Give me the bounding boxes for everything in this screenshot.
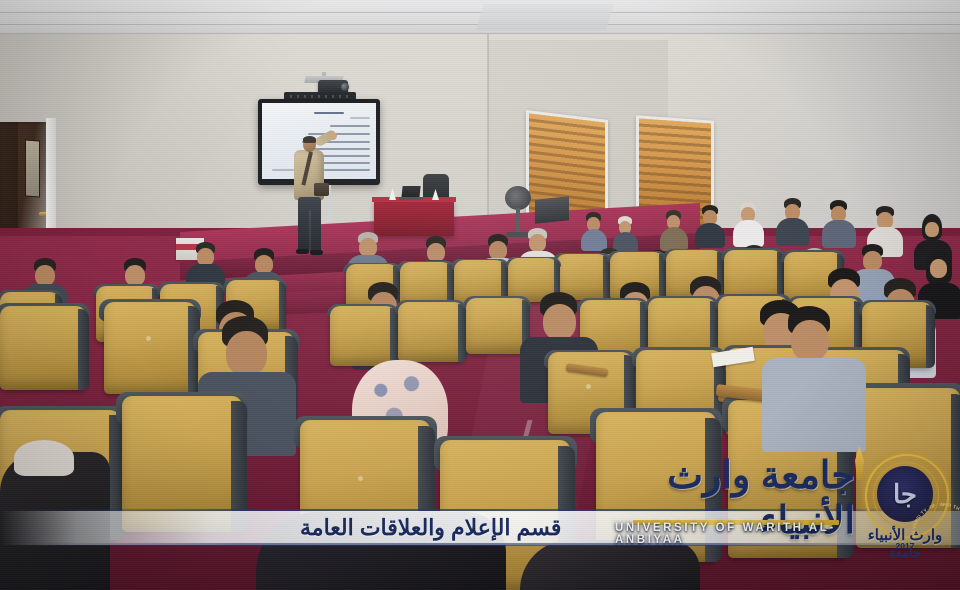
fan-base [506, 232, 530, 237]
foreground-head-covering [14, 440, 74, 476]
fan-stand [516, 208, 520, 234]
crest-arc-letter: F [932, 503, 937, 509]
university-wordmark: جامعة وارث الأنبياء UNIVERSITY OF WARITH… [615, 470, 855, 550]
auditorium-seat[interactable] [0, 306, 86, 390]
lecture-hall-photo: قسم الإعلام والعلاقات العامة جامعة وارث … [0, 0, 960, 590]
crest-spire-icon [855, 446, 864, 480]
university-crest: جا UNIVERSITY OF WARITH AL-ANBIYAA وارث … [855, 446, 955, 558]
crest-arc-text: UNIVERSITY OF WARITH AL-ANBIYAA [867, 458, 943, 534]
presenter-shoe [310, 250, 323, 255]
auditorium-seat[interactable] [104, 302, 196, 394]
presenter-shoe [296, 249, 309, 254]
shoulder-bag [314, 183, 329, 196]
auditorium-seat[interactable] [398, 302, 464, 362]
floor-fan [505, 186, 531, 210]
crest-year: 2017 [891, 540, 919, 552]
laptop-base [399, 197, 423, 200]
presenter-hand [329, 132, 337, 140]
auditorium-seat[interactable] [466, 298, 528, 354]
presenter-hair [303, 136, 316, 143]
ceiling-vent-icon [476, 4, 613, 30]
university-name-english: UNIVERSITY OF WARITH AL-ANBIYAA [615, 526, 855, 542]
presenter-table [374, 200, 454, 236]
equipment-case [535, 196, 569, 224]
auditorium-seat[interactable] [330, 306, 396, 366]
speaker-grille-icon [290, 95, 348, 98]
projector-lens-icon [341, 83, 349, 91]
university-name-arabic: جامعة وارث الأنبياء [615, 470, 855, 526]
door-glass-panel [25, 139, 40, 197]
trouser-seam [309, 210, 311, 251]
department-label: قسم الإعلام والعلاقات العامة [300, 513, 630, 543]
